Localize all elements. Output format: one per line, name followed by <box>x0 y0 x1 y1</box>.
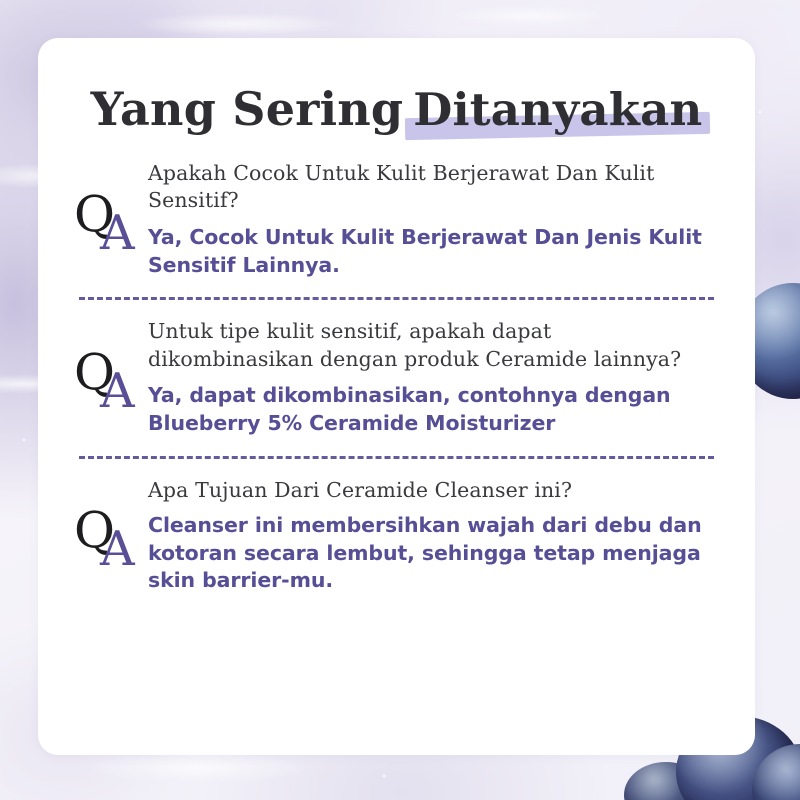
faq-card: Yang SeringDitanyakan Q A Apakah Cocok U… <box>38 38 755 755</box>
faq-list: Q A Apakah Cocok Untuk Kulit Berjerawat … <box>38 158 755 595</box>
page-title-part-two: Ditanyakan <box>413 83 702 136</box>
faq-text-block: Apakah Cocok Untuk Kulit Berjerawat Dan … <box>148 160 723 279</box>
monogram-a-letter: A <box>100 209 135 257</box>
monogram-a-letter: A <box>100 367 135 415</box>
page-title: Yang SeringDitanyakan <box>38 82 755 136</box>
monogram-a-letter: A <box>100 525 135 573</box>
qa-monogram-icon: Q A <box>70 181 144 259</box>
faq-text-block: Untuk tipe kulit sensitif, apakah dapat … <box>148 318 723 437</box>
page-title-highlighted-group: Ditanyakan <box>413 83 702 136</box>
faq-answer: Ya, Cocok Untuk Kulit Berjerawat Dan Jen… <box>148 224 723 279</box>
faq-answer: Cleanser ini membersihkan wajah dari deb… <box>148 512 723 595</box>
faq-question: Apakah Cocok Untuk Kulit Berjerawat Dan … <box>148 160 723 215</box>
faq-item: Q A Apa Tujuan Dari Ceramide Cleanser in… <box>70 477 723 595</box>
faq-item: Q A Apakah Cocok Untuk Kulit Berjerawat … <box>70 160 723 279</box>
qa-monogram-icon: Q A <box>70 497 144 575</box>
faq-divider <box>79 456 714 459</box>
faq-divider <box>79 297 714 300</box>
faq-answer: Ya, dapat dikombinasikan, contohnya deng… <box>148 382 723 437</box>
page-title-part-one: Yang Sering <box>91 82 404 136</box>
qa-monogram-icon: Q A <box>70 339 144 417</box>
faq-question: Apa Tujuan Dari Ceramide Cleanser ini? <box>148 477 723 504</box>
faq-text-block: Apa Tujuan Dari Ceramide Cleanser ini? C… <box>148 477 723 595</box>
faq-item: Q A Untuk tipe kulit sensitif, apakah da… <box>70 318 723 437</box>
faq-question: Untuk tipe kulit sensitif, apakah dapat … <box>148 318 723 373</box>
poster-canvas: Yang SeringDitanyakan Q A Apakah Cocok U… <box>0 0 800 800</box>
